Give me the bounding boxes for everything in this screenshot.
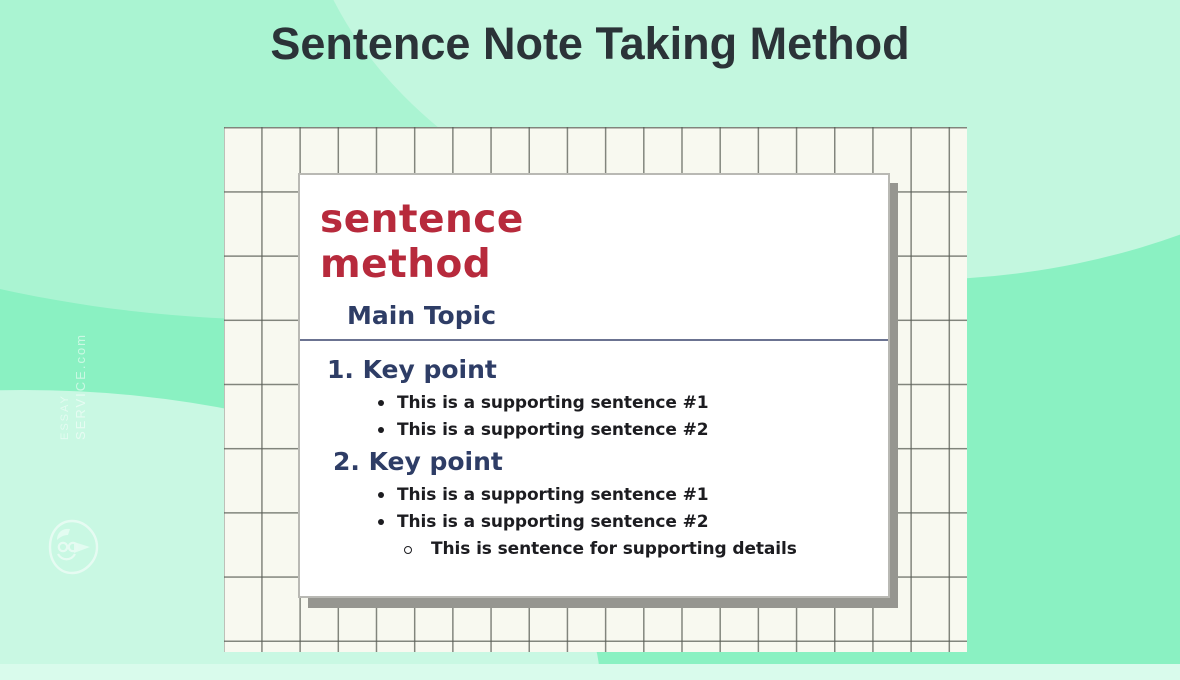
hollow-bullet-icon [404, 546, 412, 554]
watermark-line-1: ESSAY [58, 333, 73, 440]
bullet-item: This is a supporting sentence #1 [378, 391, 888, 415]
watermark: ESSAY SERVICE.com [22, 440, 122, 590]
section-title: 2. Key point [333, 445, 888, 479]
nested-bullet-item: This is sentence for supporting details [404, 537, 888, 561]
filled-bullet-icon [378, 427, 384, 433]
bullet-list: This is a supporting sentence #1 This is… [300, 483, 888, 561]
filled-bullet-icon [378, 519, 384, 525]
slide-canvas: Sentence Note Taking Method ESSAY SERVIC… [0, 0, 1180, 680]
watermark-line-2: SERVICE.com [73, 333, 88, 440]
filled-bullet-icon [378, 400, 384, 406]
key-point-sections: 1. Key point This is a supporting senten… [300, 341, 888, 561]
page-title: Sentence Note Taking Method [0, 18, 1180, 70]
bullet-item: This is a supporting sentence #2 [378, 510, 888, 534]
bullet-text: This is sentence for supporting details [431, 537, 797, 561]
watermark-text: ESSAY SERVICE.com [58, 333, 88, 440]
section-title: 1. Key point [327, 353, 888, 387]
bullet-text: This is a supporting sentence #1 [397, 483, 709, 507]
card-heading: sentence method [320, 197, 888, 287]
card-heading-line-2: method [320, 242, 888, 287]
bullet-text: This is a supporting sentence #2 [397, 418, 709, 442]
bullet-text: This is a supporting sentence #1 [397, 391, 709, 415]
bullet-item: This is a supporting sentence #2 [378, 418, 888, 442]
bullet-item: This is a supporting sentence #1 [378, 483, 888, 507]
note-card: sentence method Main Topic 1. Key point … [298, 173, 890, 598]
owl-logo-icon [44, 518, 100, 576]
bullet-text: This is a supporting sentence #2 [397, 510, 709, 534]
key-point-section: 1. Key point This is a supporting senten… [300, 353, 888, 442]
key-point-section: 2. Key point This is a supporting senten… [300, 445, 888, 561]
background-bottom-strip [0, 664, 1180, 680]
card-heading-line-1: sentence [320, 197, 888, 242]
main-topic-label: Main Topic [347, 301, 888, 330]
filled-bullet-icon [378, 492, 384, 498]
bullet-list: This is a supporting sentence #1 This is… [300, 391, 888, 442]
